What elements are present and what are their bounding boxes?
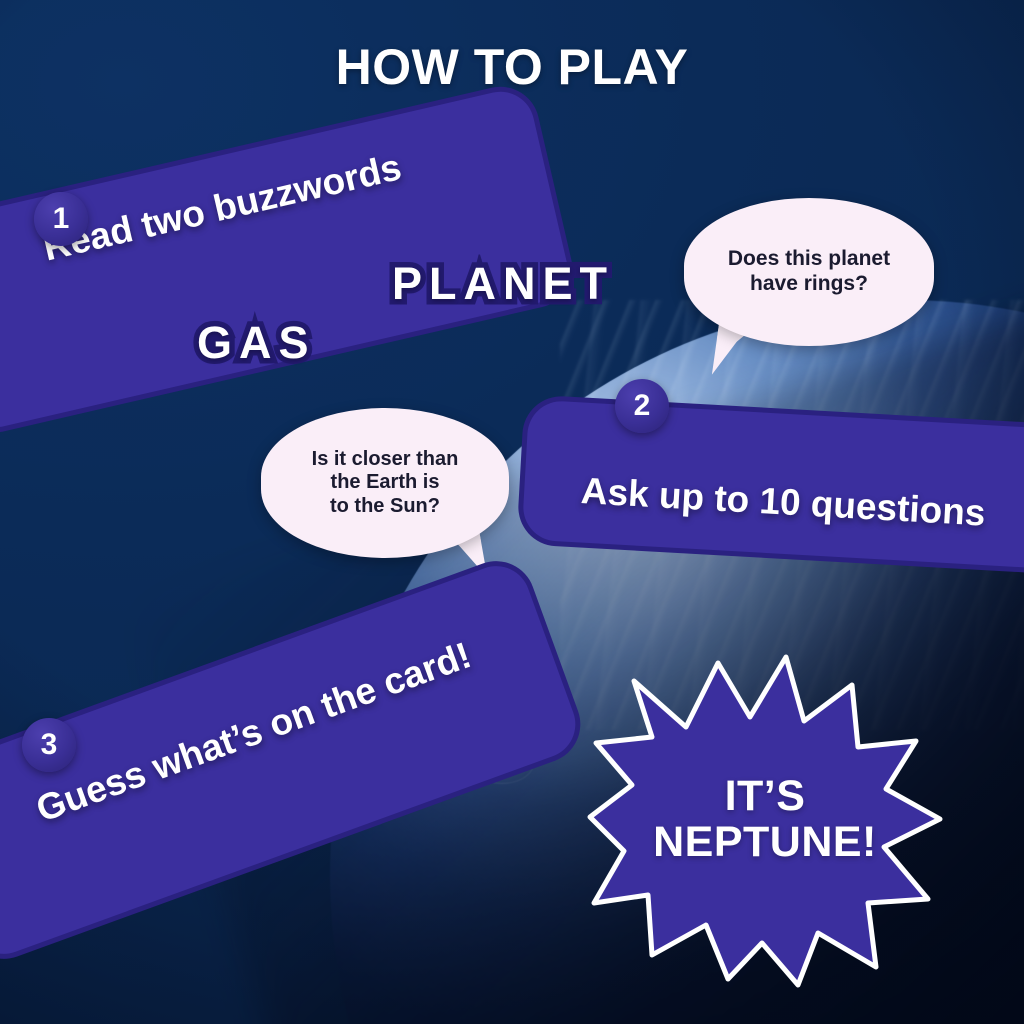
step-2-number-badge: 2 — [615, 379, 669, 433]
answer-starburst: IT’S NEPTUNE! — [590, 655, 940, 985]
speech-bubble-line: Is it closer than — [312, 448, 459, 470]
speech-bubble-line: to the Sun? — [330, 495, 440, 517]
speech-bubble-rings: Does this planet have rings? — [684, 198, 934, 346]
speech-bubble-line: have rings? — [750, 272, 868, 295]
speech-bubble-earth-sun: Is it closer than the Earth is to the Su… — [261, 408, 509, 558]
page-title: HOW TO PLAY — [0, 38, 1024, 96]
step-3-number-badge: 3 — [22, 718, 76, 772]
buzzword-chip-planet: PLANET — [392, 258, 614, 310]
step-1-number-badge: 1 — [34, 192, 88, 246]
speech-bubble-line: Does this planet — [728, 247, 890, 270]
how-to-play-infographic: HOW TO PLAY Read two buzzwords 1 PLANET … — [0, 0, 1024, 1024]
speech-bubble-text: Does this planet have rings? — [698, 247, 920, 297]
speech-bubble-text: Is it closer than the Earth is to the Su… — [282, 448, 489, 519]
speech-bubble-line: the Earth is — [331, 471, 440, 493]
buzzword-chip-gas: GAS — [197, 317, 316, 369]
starburst-icon — [590, 655, 940, 985]
